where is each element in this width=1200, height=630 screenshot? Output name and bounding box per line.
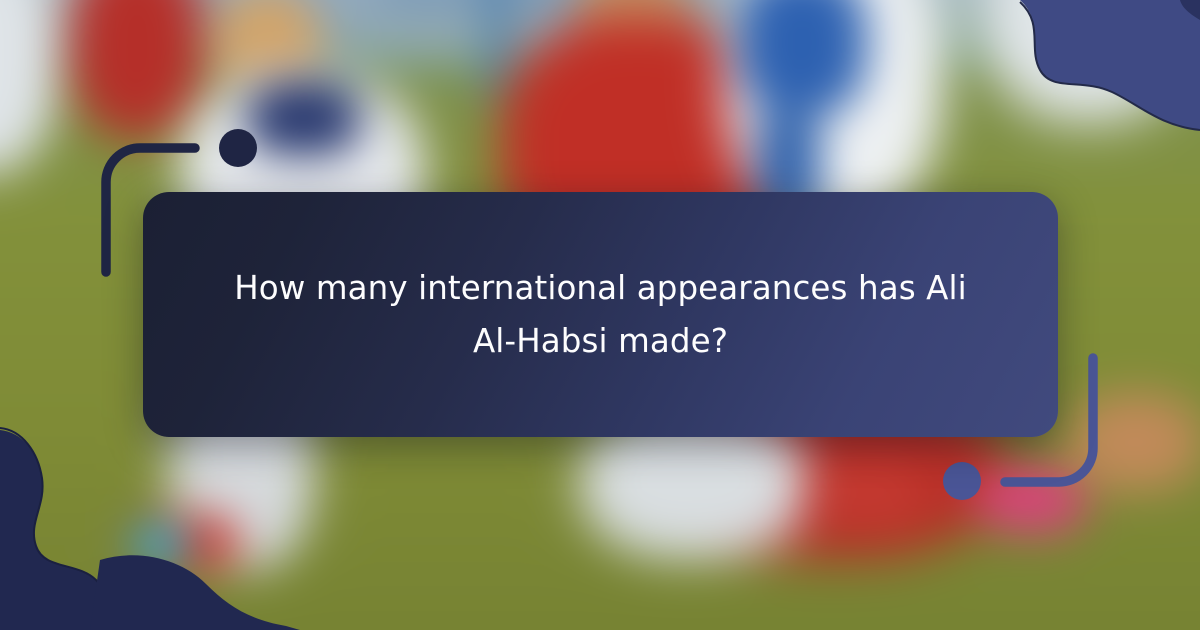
question-text: How many international appearances has A… [217,262,984,367]
background-fence-post [484,0,511,102]
background-shoe-teal [130,523,190,567]
background-shoe-red-right [813,461,927,525]
background-shoe-pink [974,466,1088,534]
background-player-shorts-navy [246,81,360,156]
social-card-canvas: How many international appearances has A… [0,0,1200,630]
question-card: How many international appearances has A… [143,192,1058,437]
background-player-blue-kit [737,0,867,117]
background-arm-skin [1068,393,1200,492]
